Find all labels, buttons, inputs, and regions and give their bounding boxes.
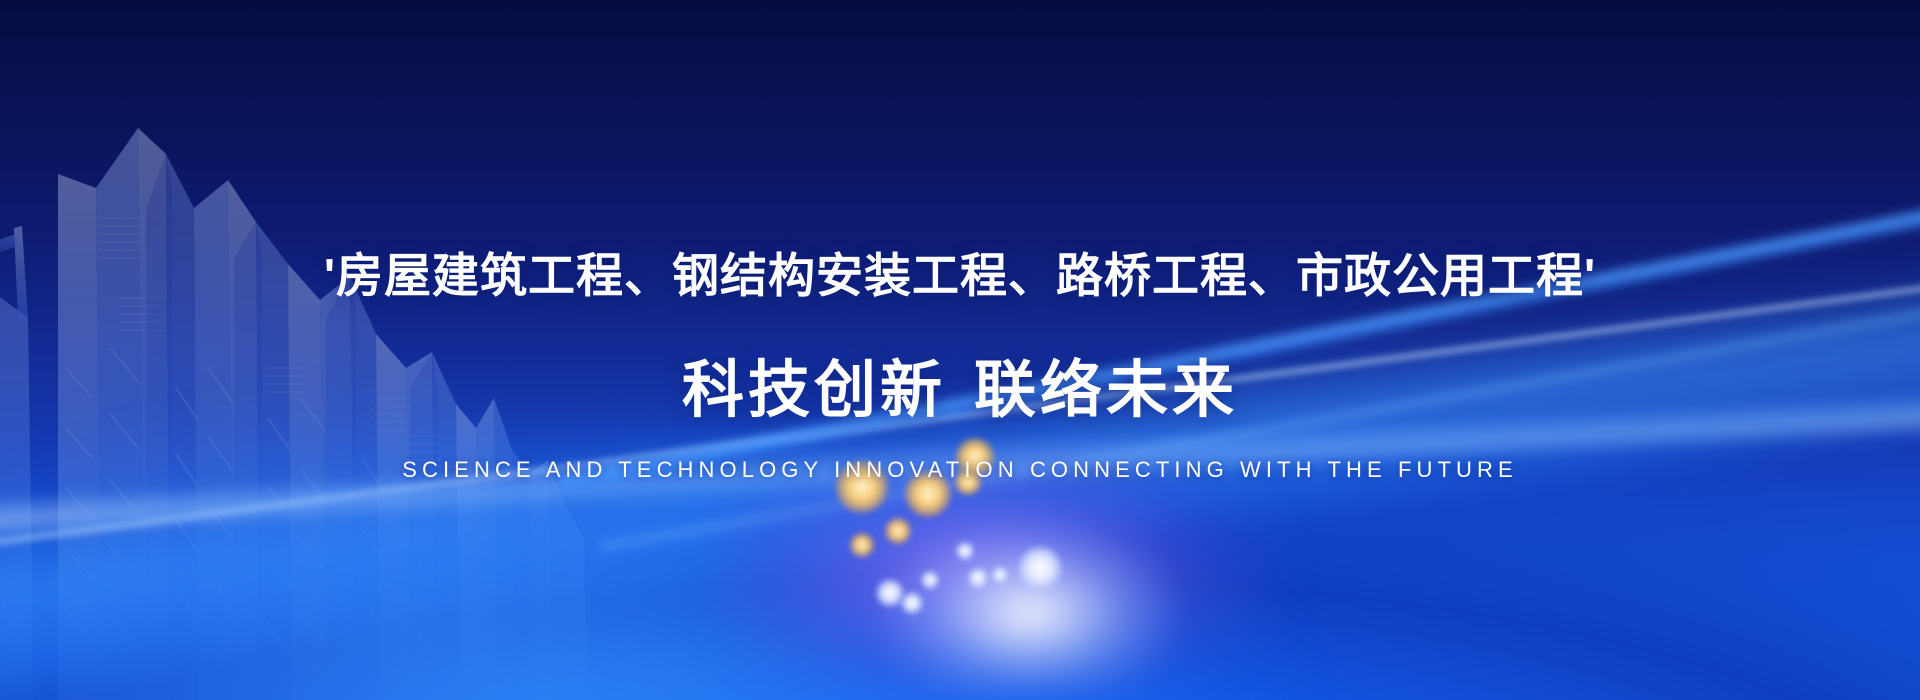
light-burst [880,520,1180,690]
banner-headline: '房屋建筑工程、钢结构安装工程、路桥工程、市政公用工程' [0,247,1920,305]
banner-slogan: 科技创新联络未来 [0,352,1920,430]
hero-banner: '房屋建筑工程、钢结构安装工程、路桥工程、市政公用工程' 科技创新联络未来 SC… [0,0,1920,700]
banner-slogan-english: SCIENCE AND TECHNOLOGY INNOVATION CONNEC… [0,455,1920,485]
slogan-right: 联络未来 [974,356,1238,425]
slogan-left: 科技创新 [682,356,946,425]
